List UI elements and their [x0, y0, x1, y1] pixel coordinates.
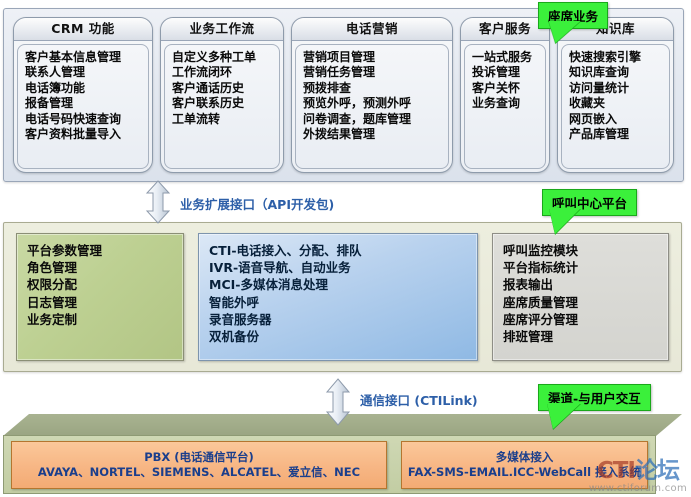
- column-customer-service-items: 一站式服务 投诉管理 客户关怀 业务查询: [464, 44, 546, 169]
- list-item: 录音服务器: [209, 311, 467, 328]
- cti-interface-label: 通信接口 (CTILink): [360, 390, 478, 409]
- list-item: 权限分配: [27, 276, 173, 293]
- callout-tail-icon: [545, 21, 580, 43]
- channel-boxes: PBX (电话通信平台) AVAYA、NORTEL、SIEMENS、ALCATE…: [3, 435, 656, 494]
- pbx-title: PBX (电话通信平台): [144, 450, 254, 465]
- list-item: 知识库查询: [569, 65, 663, 80]
- callout-channel-user-interaction: 渠道-与用户交互: [538, 384, 651, 411]
- column-telemarketing-header: 电话营销: [292, 18, 452, 41]
- column-crm-items: 客户基本信息管理 联系人管理 电话簿功能 报备管理 电话号码快速查询 客户资料批…: [17, 44, 149, 169]
- list-item: 日志管理: [27, 294, 173, 311]
- list-item: 快速搜索引擎: [569, 50, 663, 65]
- api-interface-label: 业务扩展接口（API开发包): [180, 194, 334, 213]
- list-item: 预拨排查: [303, 81, 442, 96]
- list-item: 排班管理: [503, 328, 658, 345]
- list-item: 座席评分管理: [503, 311, 658, 328]
- cti-interface-arrow-icon: [325, 378, 351, 426]
- list-item: 营销项目管理: [303, 50, 442, 65]
- column-workflow[interactable]: 业务工作流 自定义多种工单 工作流闭环 客户通话历史 客户联系历史 工单流转: [160, 17, 284, 173]
- list-item: 业务查询: [472, 96, 539, 111]
- agent-business-panel: CRM 功能 客户基本信息管理 联系人管理 电话簿功能 报备管理 电话号码快速查…: [3, 8, 684, 182]
- list-item: 报表输出: [503, 276, 658, 293]
- list-item: 业务定制: [27, 311, 173, 328]
- list-item: 客户联系历史: [172, 96, 273, 111]
- list-item: 一站式服务: [472, 50, 539, 65]
- callout-agent-business: 座席业务: [538, 2, 608, 29]
- list-item: CTI-电话接入、分配、排队: [209, 242, 467, 259]
- list-item: 智能外呼: [209, 294, 467, 311]
- pbx-box[interactable]: PBX (电话通信平台) AVAYA、NORTEL、SIEMENS、ALCATE…: [11, 441, 387, 489]
- list-item: 客户通话历史: [172, 81, 273, 96]
- list-item: 产品库管理: [569, 127, 663, 142]
- callout-tail-icon: [549, 208, 581, 234]
- list-item: 访问量统计: [569, 81, 663, 96]
- call-center-platform-panel: 平台参数管理 角色管理 权限分配 日志管理 业务定制 CTI-电话接入、分配、排…: [3, 222, 682, 372]
- list-item: 双机备份: [209, 328, 467, 345]
- list-item: IVR-语音导航、自动业务: [209, 259, 467, 276]
- api-interface-arrow-icon: [145, 180, 171, 224]
- list-item: 工作流闭环: [172, 65, 273, 80]
- list-item: 呼叫监控模块: [503, 242, 658, 259]
- list-item: 角色管理: [27, 259, 173, 276]
- multimedia-title: 多媒体接入: [496, 450, 554, 465]
- list-item: 网页嵌入: [569, 112, 663, 127]
- column-knowledge-base-items: 快速搜索引擎 知识库查询 访问量统计 收藏夹 网页嵌入 产品库管理: [561, 44, 670, 169]
- list-item: 自定义多种工单: [172, 50, 273, 65]
- list-item: 电话簿功能: [25, 81, 142, 96]
- column-customer-service[interactable]: 客户服务 一站式服务 投诉管理 客户关怀 业务查询: [460, 17, 550, 173]
- multimedia-channels: FAX-SMS-EMAIL.ICC-WebCall 接入系统: [408, 465, 641, 480]
- list-item: 报备管理: [25, 96, 142, 111]
- list-item: 营销任务管理: [303, 65, 442, 80]
- agent-business-columns: CRM 功能 客户基本信息管理 联系人管理 电话簿功能 报备管理 电话号码快速查…: [4, 9, 683, 181]
- column-crm[interactable]: CRM 功能 客户基本信息管理 联系人管理 电话簿功能 报备管理 电话号码快速查…: [13, 17, 153, 173]
- list-item: 客户基本信息管理: [25, 50, 142, 65]
- list-item: 收藏夹: [569, 96, 663, 111]
- list-item: 平台指标统计: [503, 259, 658, 276]
- platform-management-box[interactable]: 平台参数管理 角色管理 权限分配 日志管理 业务定制: [16, 233, 184, 361]
- callout-tail-icon: [547, 403, 581, 429]
- callout-call-center-platform: 呼叫中心平台: [542, 189, 637, 216]
- list-item: 平台参数管理: [27, 242, 173, 259]
- list-item: 外拨结果管理: [303, 127, 442, 142]
- column-telemarketing-items: 营销项目管理 营销任务管理 预拨排查 预览外呼，预测外呼 问卷调查，题库管理 外…: [295, 44, 449, 169]
- list-item: 座席质量管理: [503, 294, 658, 311]
- monitoring-box[interactable]: 呼叫监控模块 平台指标统计 报表输出 座席质量管理 座席评分管理 排班管理: [492, 233, 669, 361]
- list-item: 客户资料批量导入: [25, 127, 142, 142]
- list-item: 预览外呼，预测外呼: [303, 96, 442, 111]
- list-item: MCI-多媒体消息处理: [209, 276, 467, 293]
- list-item: 投诉管理: [472, 65, 539, 80]
- cti-core-box[interactable]: CTI-电话接入、分配、排队 IVR-语音导航、自动业务 MCI-多媒体消息处理…: [198, 233, 478, 361]
- pbx-vendors: AVAYA、NORTEL、SIEMENS、ALCATEL、爱立信、NEC: [38, 465, 360, 480]
- column-telemarketing[interactable]: 电话营销 营销项目管理 营销任务管理 预拨排查 预览外呼，预测外呼 问卷调查，题…: [291, 17, 453, 173]
- column-workflow-items: 自定义多种工单 工作流闭环 客户通话历史 客户联系历史 工单流转: [164, 44, 280, 169]
- diagram-canvas: CRM 功能 客户基本信息管理 联系人管理 电话簿功能 报备管理 电话号码快速查…: [0, 0, 691, 497]
- list-item: 问卷调查，题库管理: [303, 112, 442, 127]
- column-workflow-header: 业务工作流: [161, 18, 283, 41]
- list-item: 工单流转: [172, 112, 273, 127]
- column-crm-header: CRM 功能: [14, 18, 152, 41]
- multimedia-box[interactable]: 多媒体接入 FAX-SMS-EMAIL.ICC-WebCall 接入系统: [401, 441, 648, 489]
- list-item: 联系人管理: [25, 65, 142, 80]
- list-item: 电话号码快速查询: [25, 112, 142, 127]
- list-item: 客户关怀: [472, 81, 539, 96]
- column-customer-service-header: 客户服务: [461, 18, 549, 41]
